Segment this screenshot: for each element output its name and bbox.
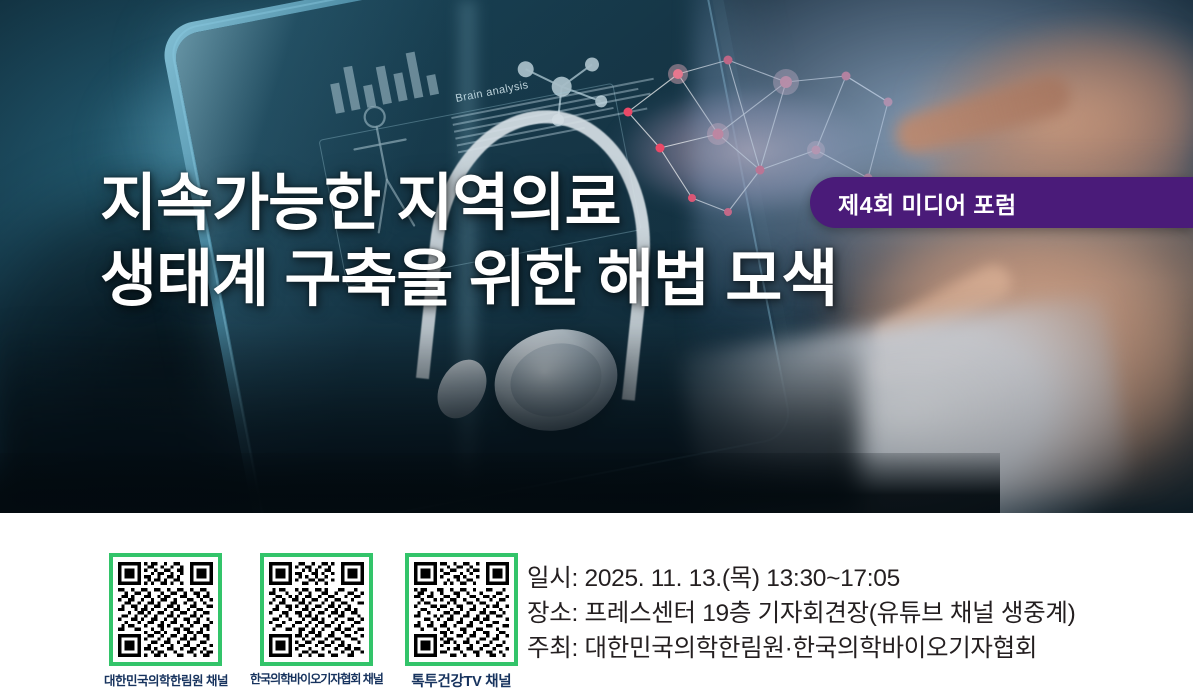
title-line-2: 생태계 구축을 위한 해법 모색 — [100, 242, 837, 318]
qr-caption-press: 한국의학바이오기자협회 채널 — [250, 670, 383, 687]
forum-edition-badge-label: 제4회 미디어 포럼 — [838, 186, 1017, 220]
qr-caption-talktohealth: 톡투건강TV 채널 — [411, 670, 511, 691]
qr-code-icon-press[interactable] — [260, 553, 373, 666]
qr-matrix — [269, 562, 364, 657]
event-host: 주최: 대한민국의학한림원·한국의학바이오기자협회 — [527, 631, 1075, 666]
qr-code-row: 대한민국의학한림원 채널 — [104, 553, 518, 691]
qr-matrix — [414, 562, 509, 657]
qr-code-icon-academy[interactable] — [109, 553, 222, 666]
title-line-1: 지속가능한 지역의료 — [100, 166, 837, 242]
page-title: 지속가능한 지역의료 생태계 구축을 위한 해법 모색 — [100, 166, 837, 318]
qr-caption-academy: 대한민국의학한림원 채널 — [104, 670, 228, 689]
qr-item-talktohealth[interactable]: 톡투건강TV 채널 — [405, 553, 518, 691]
forum-edition-badge: 제4회 미디어 포럼 — [810, 177, 1193, 228]
event-datetime: 일시: 2025. 11. 13.(목) 13:30~17:05 — [527, 561, 1075, 596]
hero-banner: Brain analysis — [0, 0, 1193, 513]
qr-item-academy[interactable]: 대한민국의학한림원 채널 — [104, 553, 228, 689]
event-location: 장소: 프레스센터 19층 기자회견장(유튜브 채널 생중계) — [527, 596, 1075, 631]
event-details: 일시: 2025. 11. 13.(목) 13:30~17:05 장소: 프레스… — [527, 561, 1075, 666]
qr-item-press[interactable]: 한국의학바이오기자협회 채널 — [250, 553, 383, 687]
qr-code-icon-talktohealth[interactable] — [405, 553, 518, 666]
qr-matrix — [118, 562, 213, 657]
poster-footer: 대한민국의학한림원 채널 — [0, 513, 1193, 699]
